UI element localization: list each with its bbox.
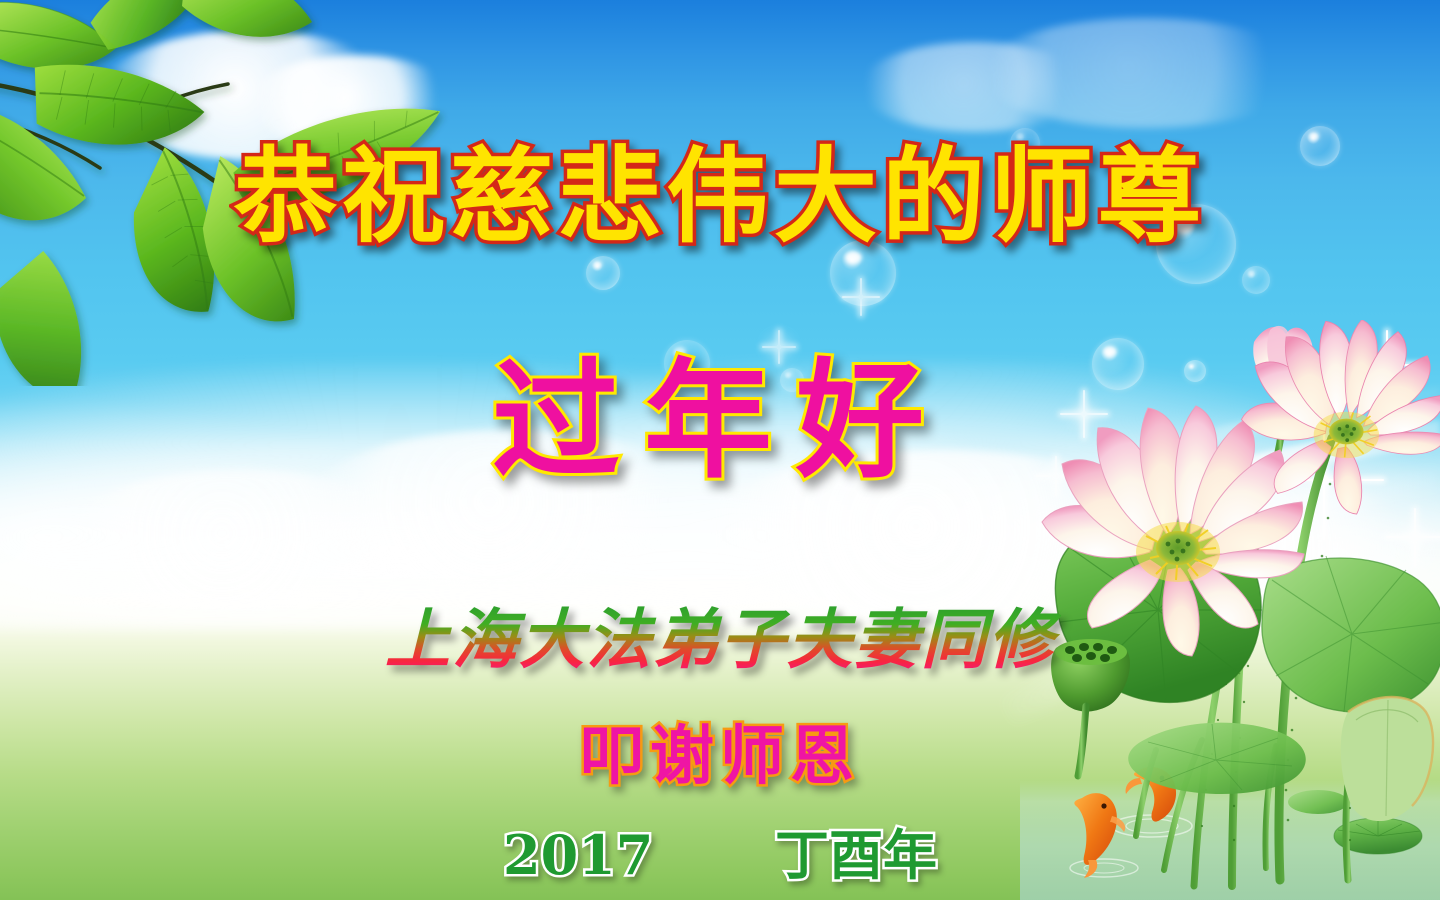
main-title-line: 恭祝慈悲伟大的师尊: [0, 140, 1440, 255]
signature-line: 上海大法弟子夫妻同修: [0, 605, 1440, 677]
greeting-text-layer: 恭祝慈悲伟大的师尊 过年好 上海大法弟子夫妻同修 叩谢师恩 2017 丁酉年: [0, 0, 1440, 900]
year-line: 2017 丁酉年: [0, 826, 1440, 885]
year-number: 2017: [503, 823, 653, 887]
greeting-card-canvas: 恭祝慈悲伟大的师尊 过年好 上海大法弟子夫妻同修 叩谢师恩 2017 丁酉年: [0, 0, 1440, 900]
year-cyclical: 丁酉年: [775, 824, 937, 887]
thanks-line: 叩谢师恩: [0, 722, 1440, 792]
new-year-greeting-line: 过年好: [0, 352, 1440, 493]
